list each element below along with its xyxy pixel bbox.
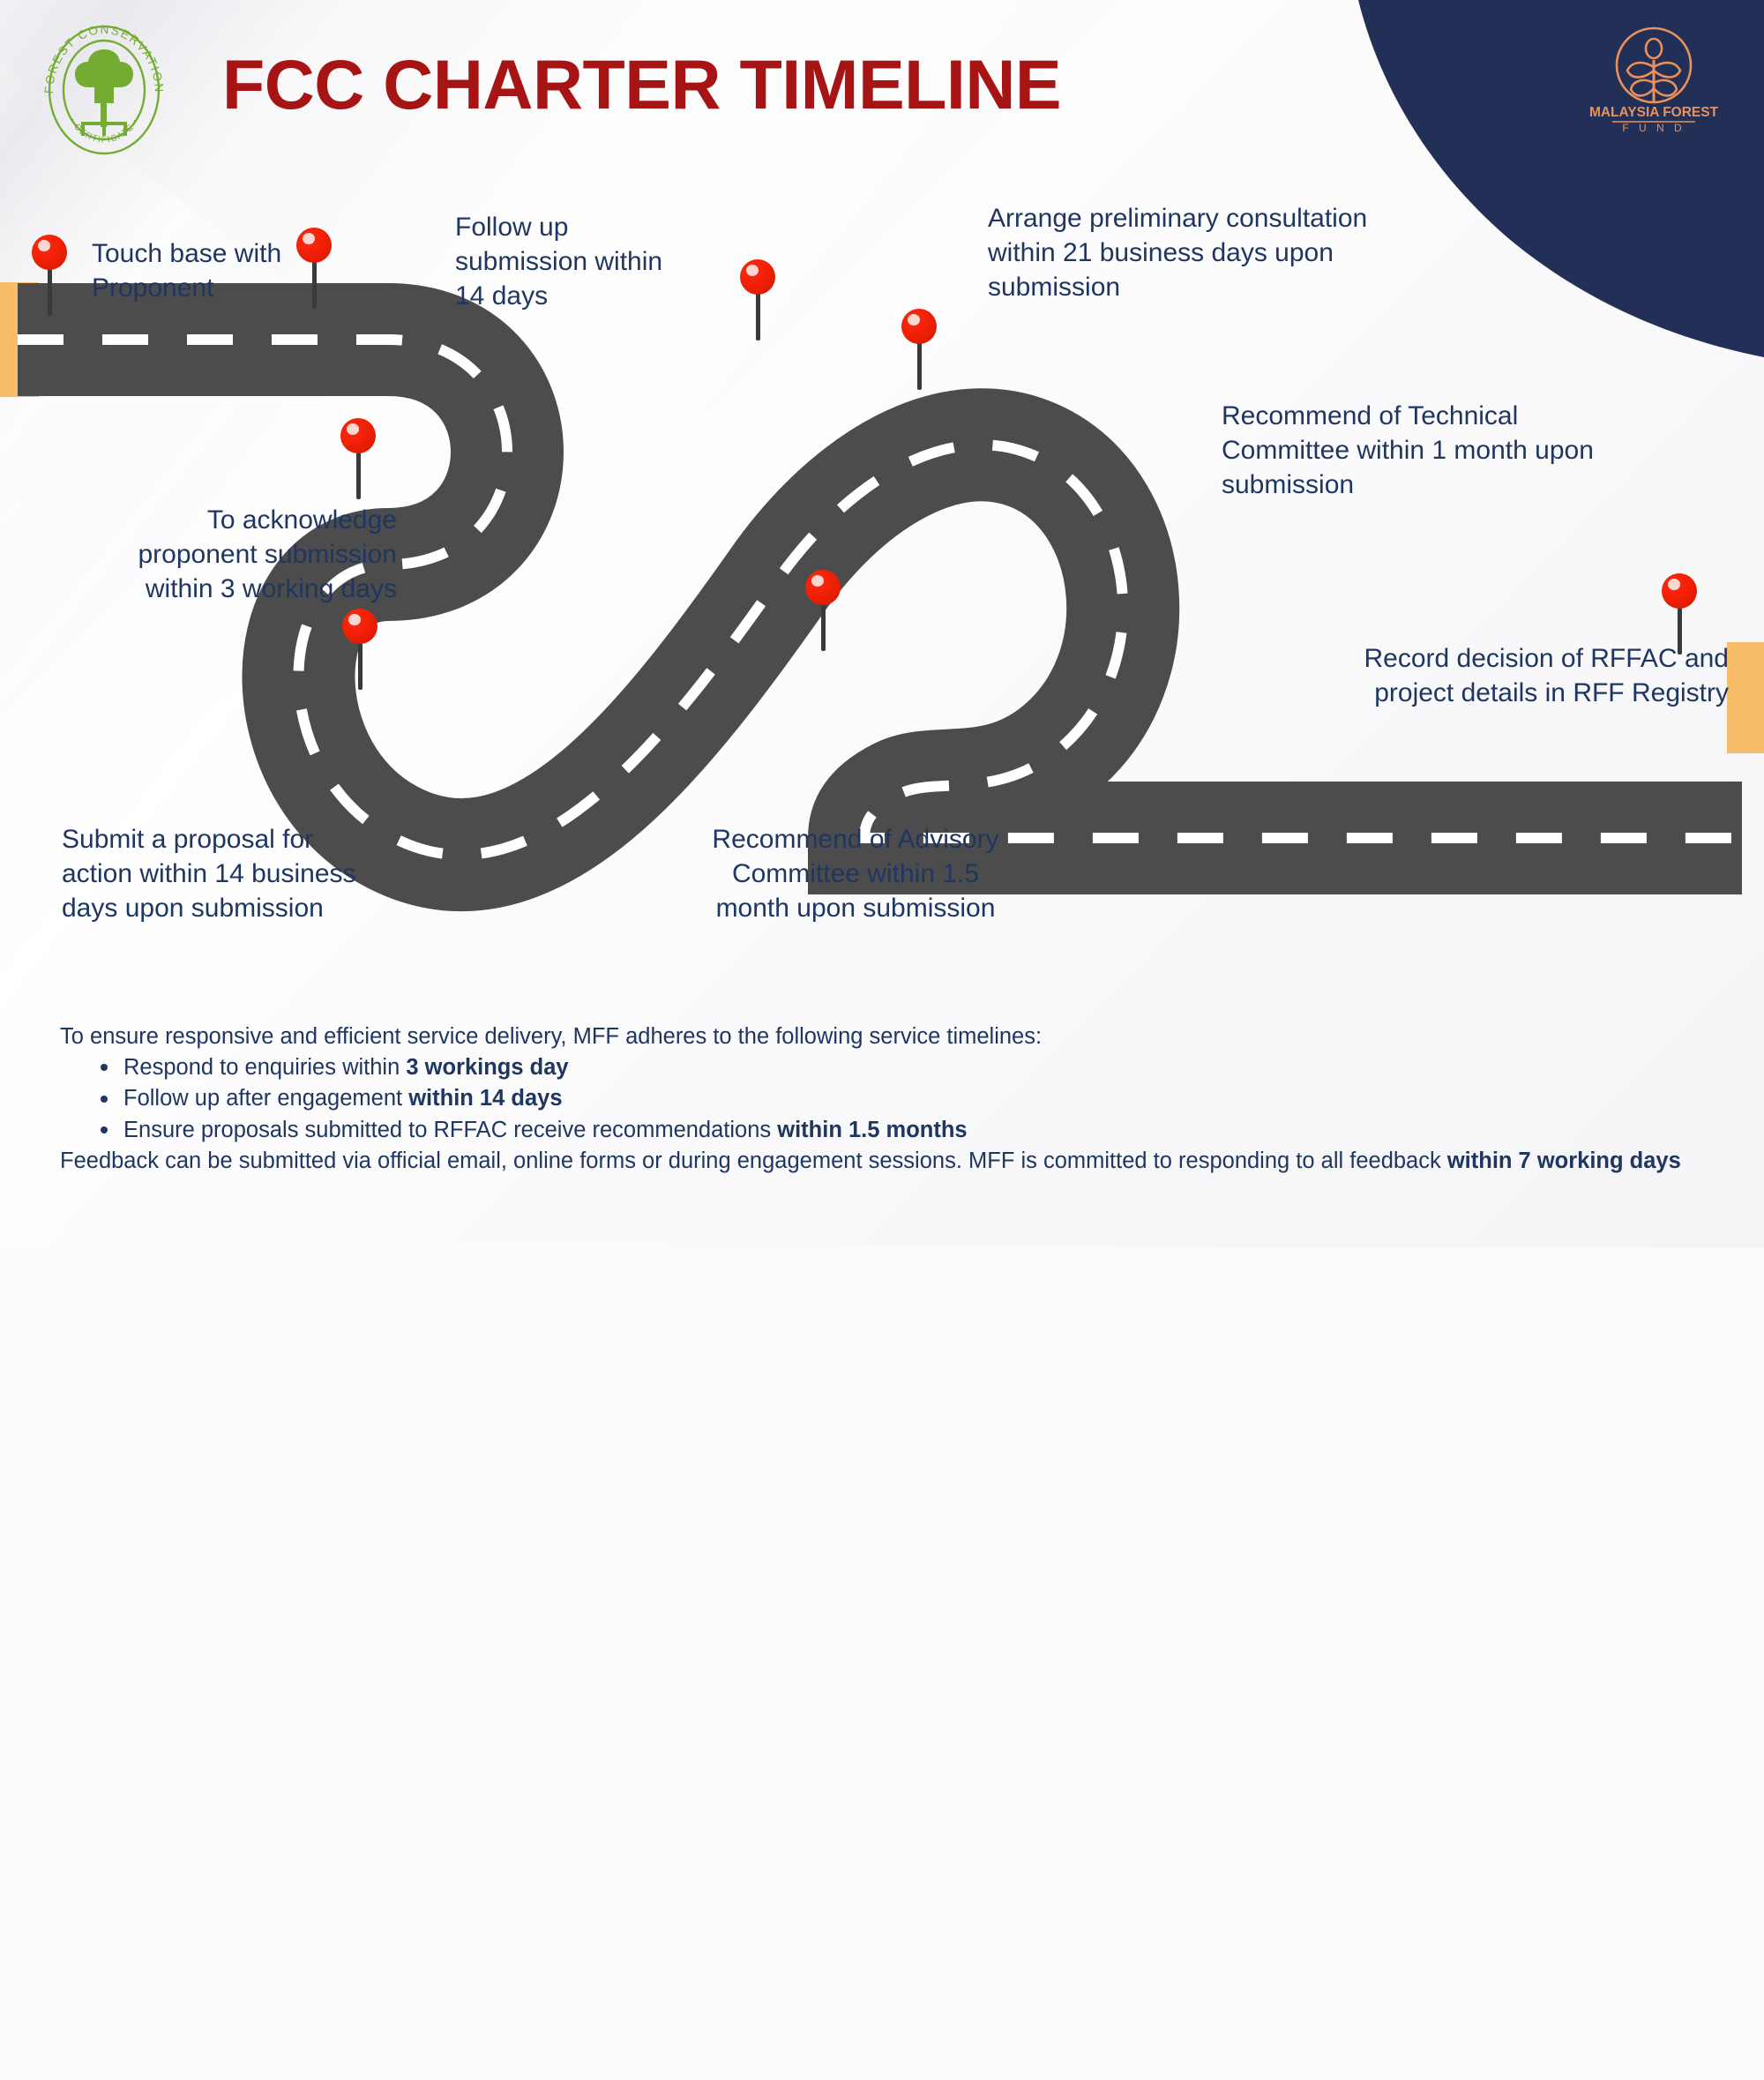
step-label-line: Record decision of RFFAC and — [1364, 644, 1729, 673]
bullet-dot-icon — [101, 1064, 108, 1071]
pin-head — [1662, 573, 1697, 609]
footer-bullet-bold: within 1.5 months — [777, 1118, 967, 1142]
step-label-line: within 21 business days upon — [988, 238, 1334, 267]
footer-bullet-bold: 3 workings day — [406, 1055, 568, 1080]
step-label-line: Proponent — [92, 273, 213, 303]
footer-outro-text: Feedback can be submitted via official e… — [60, 1148, 1447, 1173]
step-label-acknowledge: To acknowledgeproponent submissionwithin… — [71, 503, 397, 606]
step-label-line: submission within — [455, 247, 662, 276]
pin-touch-base[interactable] — [32, 235, 67, 316]
step-label-advisory-committee: Recommend of AdvisoryCommittee within 1.… — [679, 822, 1032, 925]
step-label-line: proponent submission — [138, 540, 397, 569]
step-label-line: within 3 working days — [146, 574, 397, 603]
step-label-follow-up: Follow upsubmission within14 days — [455, 210, 746, 313]
step-label-line: Recommend of Technical — [1222, 401, 1518, 430]
pin-submit-proposal[interactable] — [342, 609, 377, 690]
footer-outro-bold: within 7 working days — [1447, 1148, 1681, 1173]
mff-logo-line1: MALAYSIA FOREST — [1589, 105, 1719, 120]
step-label-line: project details in RFF Registry — [1374, 678, 1729, 707]
step-label-rffac-registry: Record decision of RFFAC andproject deta… — [1252, 641, 1729, 710]
pin-technical-committee[interactable] — [901, 309, 937, 390]
step-label-line: days upon submission — [62, 894, 324, 923]
pin-head — [340, 418, 376, 453]
fcc-logo: FOREST CONSERVATION • CERTIFICATE • — [34, 19, 175, 161]
step-label-line: Recommend of Advisory — [712, 825, 998, 854]
step-label-line: Arrange preliminary consultation — [988, 204, 1367, 233]
bullet-dot-icon — [101, 1126, 108, 1134]
footer-outro: Feedback can be submitted via official e… — [60, 1146, 1718, 1177]
footer-block: To ensure responsive and efficient servi… — [60, 1021, 1718, 1177]
step-label-preliminary-consult: Arrange preliminary consultationwithin 2… — [988, 201, 1482, 304]
footer-bullet-item: Respond to enquiries within 3 workings d… — [101, 1052, 1718, 1083]
footer-bullet-text: Ensure proposals submitted to RFFAC rece… — [123, 1118, 777, 1142]
step-label-line: Follow up — [455, 213, 568, 242]
pin-advisory-committee[interactable] — [805, 570, 841, 651]
footer-bullet-item: Ensure proposals submitted to RFFAC rece… — [101, 1115, 1718, 1146]
step-label-line: month upon submission — [716, 894, 996, 923]
step-label-submit-proposal: Submit a proposal foraction within 14 bu… — [62, 822, 432, 925]
footer-intro: To ensure responsive and efficient servi… — [60, 1021, 1718, 1052]
step-label-line: action within 14 business — [62, 859, 356, 888]
bullet-dot-icon — [101, 1096, 108, 1103]
step-label-line: Touch base with — [92, 239, 281, 268]
step-label-touch-base: Touch base withProponent — [92, 236, 383, 305]
step-label-line: 14 days — [455, 281, 548, 311]
footer-bullet-text: Respond to enquiries within — [123, 1055, 406, 1080]
mff-logo-line2: F U N D — [1622, 122, 1685, 134]
step-label-line: Submit a proposal for — [62, 825, 313, 854]
footer-bullet-list: Respond to enquiries within 3 workings d… — [60, 1052, 1718, 1146]
step-label-line: Committee within 1.5 — [732, 859, 979, 888]
mff-logo: MALAYSIA FOREST F U N D — [1588, 25, 1720, 138]
step-label-line: submission — [988, 273, 1120, 302]
pin-head — [342, 609, 377, 644]
pin-head — [32, 235, 67, 270]
step-label-technical-committee: Recommend of TechnicalCommittee within 1… — [1222, 399, 1715, 502]
step-label-line: To acknowledge — [207, 505, 397, 535]
step-label-line: submission — [1222, 470, 1354, 499]
footer-bullet-text: Follow up after engagement — [123, 1086, 408, 1111]
pin-acknowledge[interactable] — [340, 418, 376, 499]
pin-head — [805, 570, 841, 605]
pin-head — [901, 309, 937, 344]
footer-bullet-bold: within 14 days — [408, 1086, 562, 1111]
step-label-line: Committee within 1 month upon — [1222, 436, 1594, 465]
footer-bullet-item: Follow up after engagement within 14 day… — [101, 1083, 1718, 1114]
page-title: FCC CHARTER TIMELINE — [222, 49, 1061, 119]
